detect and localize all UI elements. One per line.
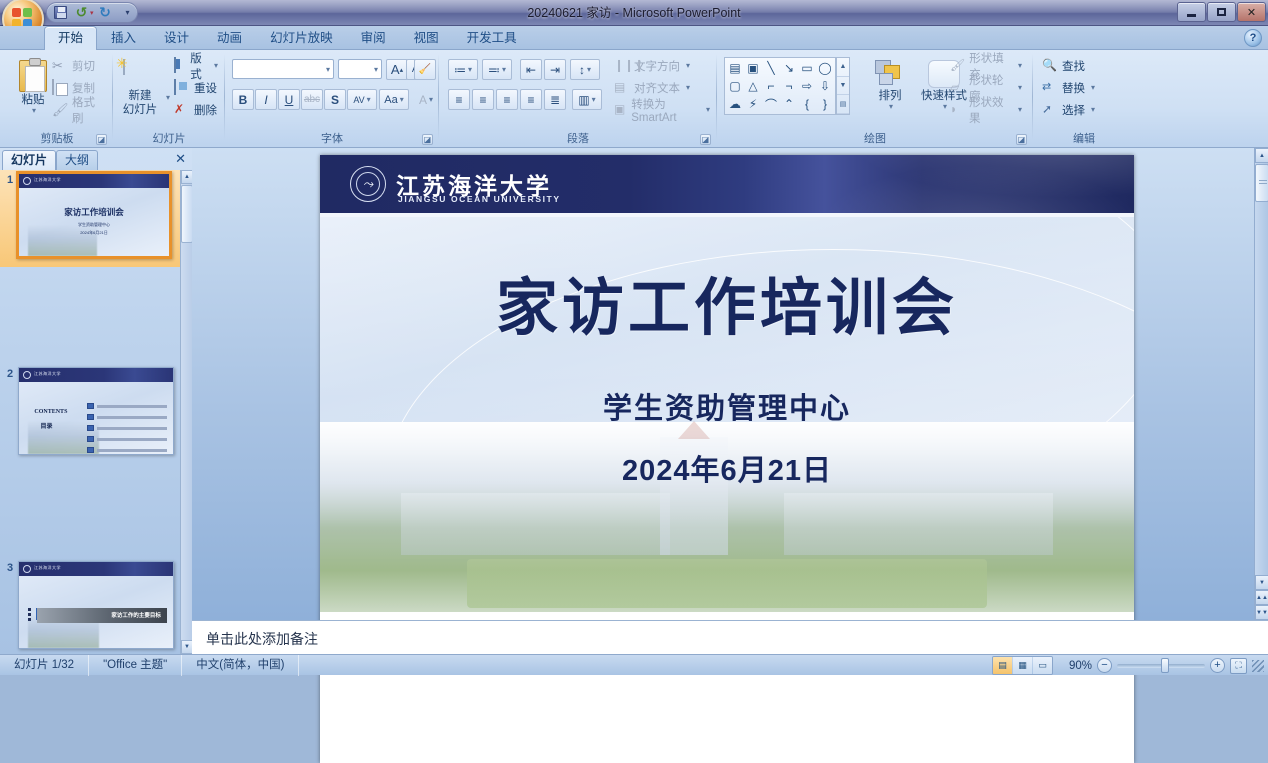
shape-fill-icon: 🖌 [950, 58, 965, 74]
tab-review[interactable]: 审阅 [347, 26, 400, 50]
strikethrough-icon: abc [304, 94, 320, 105]
arrange-dropdown-icon[interactable]: ▾ [889, 102, 893, 111]
align-center-icon: ≡ [479, 93, 486, 107]
tab-insert[interactable]: 插入 [97, 26, 150, 50]
thumbnail-number: 2 [3, 368, 17, 380]
reset-label: 重设 [194, 80, 217, 96]
shape-elbow-icon[interactable]: ⌐ [762, 77, 780, 95]
bold-icon: B [239, 93, 248, 107]
close-icon: ✕ [1247, 6, 1256, 19]
scroll-thumb[interactable] [1255, 164, 1268, 202]
align-left-button[interactable]: ≡ [448, 89, 470, 110]
numbering-button[interactable]: ≕▾ [482, 59, 512, 80]
university-name-en: JIANGSU OCEAN UNIVERSITY [398, 194, 561, 204]
select-arrow-icon: ➚ [1042, 102, 1058, 118]
new-slide-label-1: 新建 [129, 90, 152, 102]
thumbnail-slide-3[interactable]: 3 江苏海洋大学 家访工作的主要目标 [0, 558, 180, 654]
font-dialog-launcher-icon[interactable]: ◪ [422, 134, 433, 145]
decrease-indent-icon: ⇤ [526, 63, 536, 77]
shape-right-arrow-icon[interactable]: ⇨ [798, 77, 816, 95]
zoom-out-button[interactable]: − [1097, 658, 1112, 673]
new-slide-icon: ✳ [123, 60, 157, 88]
tab-developer[interactable]: 开发工具 [453, 26, 531, 50]
arrange-button[interactable]: 排列 ▾ [868, 55, 912, 112]
ribbon-tab-bar: 开始 插入 设计 动画 幻灯片放映 审阅 视图 开发工具 ? [0, 26, 1268, 50]
reset-icon [174, 80, 190, 96]
find-button[interactable]: 🔍 查找 [1038, 55, 1118, 76]
convert-smartart-label: 转换为 SmartArt [631, 96, 700, 124]
redo-icon[interactable]: ↻ [96, 4, 115, 22]
increase-indent-icon: ⇥ [550, 63, 560, 77]
tab-slideshow[interactable]: 幻灯片放映 [256, 26, 347, 50]
distribute-button[interactable]: ≣ [544, 89, 566, 110]
slide-canvas: ⤳ 江苏海洋大学 JIANGSU OCEAN UNIVERSITY [320, 155, 1134, 612]
bullets-icon: ≔ [454, 63, 466, 77]
ribbon: 粘贴 ▾ ✂ 剪切 复制 🖌 格式刷 剪贴板 ◪ [0, 50, 1268, 148]
ribbon-tabs: 开始 插入 设计 动画 幻灯片放映 审阅 视图 开发工具 [44, 26, 531, 50]
grow-font-icon: A [391, 62, 400, 77]
slides-pane-tabs: 幻灯片 大纲 ✕ [0, 148, 192, 170]
layout-button[interactable]: 版式 ▾ [170, 55, 222, 76]
shape-arc-icon[interactable]: ⌃ [780, 95, 798, 113]
group-label-drawing: 绘图 [720, 130, 1030, 146]
close-pane-icon[interactable]: ✕ [175, 151, 186, 167]
line-spacing-icon: ↕ [579, 63, 585, 77]
shape-down-arrow-icon[interactable]: ⇩ [816, 77, 834, 95]
shape-arrow-icon[interactable]: ↘ [780, 59, 798, 77]
scroll-down-icon[interactable]: ▼ [1255, 575, 1268, 590]
shapes-scroll-down-icon[interactable]: ▼ [837, 77, 849, 96]
align-left-icon: ≡ [455, 93, 462, 107]
zoom-level-label[interactable]: 90% [1058, 660, 1092, 672]
shape-lbrace-icon[interactable]: { [798, 95, 816, 113]
font-color-button[interactable]: A ▾ [411, 89, 441, 110]
italic-icon: I [264, 93, 267, 107]
shape-effects-icon: ◗ [950, 102, 965, 118]
view-slide-sorter-button[interactable]: ▦ [1013, 657, 1032, 674]
font-name-dropdown-icon[interactable]: ▾ [326, 65, 330, 74]
layout-icon [174, 58, 186, 74]
shape-cloud-icon[interactable]: ☁ [726, 95, 744, 113]
format-painter-label: 格式刷 [72, 94, 104, 126]
columns-icon: ▥ [578, 93, 589, 107]
window-title: 20240621 家访 - Microsoft PowerPoint [0, 0, 1268, 26]
shapes-more-icon[interactable]: ▤ [837, 95, 849, 114]
replace-button[interactable]: ⇄ 替换 ▾ [1038, 77, 1118, 98]
convert-smartart-button[interactable]: ▣ 转换为 SmartArt ▾ [610, 99, 714, 120]
shape-picture-icon[interactable]: ▣ [744, 59, 762, 77]
shape-lightning-icon[interactable]: ⚡ [744, 95, 762, 113]
customize-qat-icon[interactable]: ▾ [126, 8, 130, 17]
replace-icon: ⇄ [1042, 80, 1058, 96]
status-right-controls: ▤ ▦ ▭ 90% − + ⛶ [992, 655, 1264, 676]
thumbnail-title: 家访工作培训会 [19, 206, 169, 218]
resize-grip[interactable] [1252, 660, 1264, 672]
character-spacing-icon: AV [353, 95, 364, 105]
shape-rbrace-icon[interactable]: } [816, 95, 834, 113]
shape-triangle-icon[interactable]: △ [744, 77, 762, 95]
redo-glyph: ↻ [99, 4, 111, 21]
slide-workspace: ⤳ 江苏海洋大学 JIANGSU OCEAN UNIVERSITY [192, 148, 1254, 620]
shapes-grid[interactable]: ▤ ▣ ╲ ↘ ▭ ◯ ▢ △ ⌐ ¬ ⇨ ⇩ ☁ ⚡ ⌒ [724, 57, 836, 115]
tab-slides-thumbnails[interactable]: 幻灯片 [2, 150, 56, 170]
shape-outline-icon: ▱ [950, 80, 965, 96]
align-text-icon: ▤ [614, 80, 630, 96]
undo-icon[interactable]: ↺ [72, 4, 91, 22]
clipboard-dialog-launcher-icon[interactable]: ◪ [96, 134, 107, 145]
paste-dropdown-icon[interactable]: ▾ [32, 106, 36, 115]
restore-button[interactable] [1207, 2, 1236, 22]
previous-slide-icon[interactable]: ▲▲ [1255, 590, 1268, 605]
smartart-icon: ▣ [614, 102, 627, 118]
thumbnail-contents-list [87, 401, 167, 455]
scroll-bottom-controls: ▼ ▲▲ ▼▼ [1255, 575, 1268, 620]
thumbnail-contents-cn: 目录 [41, 421, 53, 430]
group-label-clipboard: 剪贴板 [4, 130, 110, 146]
university-logo-icon: ⤳ [350, 166, 386, 202]
shapes-scroll-up-icon[interactable]: ▲ [837, 58, 849, 77]
replace-label: 替换 [1062, 80, 1085, 96]
arrange-icon [875, 60, 905, 88]
find-icon: 🔍 [1042, 58, 1058, 74]
clear-formatting-button[interactable]: 🧹 [414, 59, 436, 80]
distribute-icon: ≣ [550, 93, 560, 107]
fit-to-window-button[interactable]: ⛶ [1230, 658, 1247, 674]
tab-animations[interactable]: 动画 [203, 26, 256, 50]
slide-vertical-scrollbar[interactable]: ▲ ▼ ▲▲ ▼▼ [1254, 148, 1268, 620]
view-slideshow-button[interactable]: ▭ [1033, 657, 1052, 674]
copy-icon [52, 80, 68, 96]
view-normal-button[interactable]: ▤ [993, 657, 1012, 674]
undo-glyph: ↺ [76, 4, 88, 21]
shape-effects-label: 形状效果 [969, 94, 1012, 126]
thumbnail-date: 2024年6月21日 [19, 230, 169, 236]
paste-icon [19, 60, 47, 92]
tab-outline[interactable]: 大纲 [56, 150, 98, 170]
thumbnail-slide-2[interactable]: 2 江苏海洋大学 CONTENTS 目录 [0, 364, 180, 461]
reset-button[interactable]: 重设 [170, 77, 222, 98]
shapes-gallery[interactable]: ▤ ▣ ╲ ↘ ▭ ◯ ▢ △ ⌐ ¬ ⇨ ⇩ ☁ ⚡ ⌒ [724, 57, 850, 115]
scroll-up-icon[interactable]: ▲ [1255, 148, 1268, 163]
format-painter-icon: 🖌 [52, 102, 68, 118]
justify-icon: ≡ [527, 93, 534, 107]
window-controls: ✕ [1177, 2, 1266, 22]
shape-line-icon[interactable]: ╲ [762, 59, 780, 77]
save-icon[interactable] [51, 4, 70, 22]
status-theme: "Office 主题" [89, 655, 182, 676]
shape-rect-icon[interactable]: ▭ [798, 59, 816, 77]
ribbon-group-slides: ✳ 新建 幻灯片 ▾ 版式 ▾ 重设 ✗ 删除 [116, 51, 222, 147]
increase-indent-button[interactable]: ⇥ [544, 59, 566, 80]
group-label-paragraph: 段落 [442, 130, 714, 146]
group-label-slides: 幻灯片 [116, 130, 222, 146]
text-shadow-icon: S [331, 93, 339, 107]
new-slide-label-2: 幻灯片 [123, 104, 158, 116]
status-slide-count: 幻灯片 1/32 [0, 655, 89, 676]
delete-icon: ✗ [174, 102, 190, 118]
delete-label: 删除 [194, 102, 217, 118]
font-name-combobox[interactable]: ▾ [232, 59, 334, 79]
text-shadow-button[interactable]: S [324, 89, 346, 110]
slide-body: 家访工作培训会 学生资助管理中心 2024年6月21日 [320, 217, 1134, 612]
slide-date[interactable]: 2024年6月21日 [320, 447, 1134, 489]
columns-button[interactable]: ▥▾ [572, 89, 602, 110]
shape-elbow2-icon[interactable]: ¬ [780, 77, 798, 95]
close-button[interactable]: ✕ [1237, 2, 1266, 22]
thumbnail-subtitle: 学生资助管理中心 [19, 222, 169, 228]
line-spacing-button[interactable]: ↕▾ [570, 59, 600, 80]
numbering-icon: ≕ [488, 63, 500, 77]
delete-slide-button[interactable]: ✗ 删除 [170, 99, 222, 120]
zoom-in-button[interactable]: + [1210, 658, 1225, 673]
align-text-label: 对齐文本 [634, 80, 680, 96]
underline-icon: U [285, 93, 294, 107]
ribbon-group-paragraph: ≔▾ ≕▾ ⇤ ⇥ ↕▾ ≡ ≡ ≡ ≡ ≣ [442, 51, 714, 147]
thumbnail-number: 1 [3, 174, 17, 186]
powerpoint-window: 20240621 家访 - Microsoft PowerPoint ↺ ▾ ↻… [0, 0, 1268, 675]
status-bar: 幻灯片 1/32 "Office 主题" 中文(简体，中国) ▤ ▦ ▭ 90%… [0, 654, 1268, 675]
decrease-indent-button[interactable]: ⇤ [520, 59, 542, 80]
underline-button[interactable]: U [278, 89, 300, 110]
thumbnail-contents-en: CONTENTS [34, 409, 67, 415]
ribbon-group-clipboard: 粘贴 ▾ ✂ 剪切 复制 🖌 格式刷 剪贴板 ◪ [4, 51, 110, 147]
thumbnail-preview[interactable]: 江苏海洋大学 家访工作的主要目标 [18, 561, 174, 649]
paragraph-dialog-launcher-icon[interactable]: ◪ [700, 134, 711, 145]
strikethrough-button[interactable]: abc [301, 89, 323, 110]
arrange-label: 排列 [879, 90, 902, 102]
find-label: 查找 [1062, 58, 1085, 74]
ribbon-group-drawing: ▤ ▣ ╲ ↘ ▭ ◯ ▢ △ ⌐ ¬ ⇨ ⇩ ☁ ⚡ ⌒ [720, 51, 1030, 147]
group-label-editing: 编辑 [1034, 130, 1134, 146]
font-size-dropdown-icon[interactable]: ▾ [374, 65, 378, 74]
slide-thumbnail-list: 1 江苏海洋大学 家访工作培训会 学生资助管理中心 2024年6月21日 2 江… [0, 170, 180, 654]
thumbnail-preview[interactable]: 江苏海洋大学 CONTENTS 目录 [18, 367, 174, 455]
shape-effects-button[interactable]: ◗ 形状效果 ▾ [946, 99, 1026, 120]
align-right-button[interactable]: ≡ [496, 89, 518, 110]
slide-title[interactable]: 家访工作培训会 [320, 257, 1134, 347]
thumbnail-band-title: 家访工作的主要目标 [111, 611, 161, 619]
thumbnail-preview[interactable]: 江苏海洋大学 家访工作培训会 学生资助管理中心 2024年6月21日 [16, 171, 172, 259]
group-label-font: 字体 [228, 130, 436, 146]
text-direction-button[interactable]: ❙❙❙ 文字方向 ▾ [610, 55, 710, 76]
select-button[interactable]: ➚ 选择 ▾ [1038, 99, 1118, 120]
slides-pane: 幻灯片 大纲 ✕ 1 江苏海洋大学 家访工作培训会 学生资助管理中心 2024年… [0, 148, 192, 654]
new-slide-button[interactable]: ✳ 新建 幻灯片 [116, 55, 164, 117]
drawing-dialog-launcher-icon[interactable]: ◪ [1016, 134, 1027, 145]
align-center-button[interactable]: ≡ [472, 89, 494, 110]
title-bar: 20240621 家访 - Microsoft PowerPoint ↺ ▾ ↻… [0, 0, 1268, 26]
scissors-icon: ✂ [52, 58, 68, 74]
cut-label: 剪切 [72, 58, 95, 74]
quick-access-toolbar: ↺ ▾ ↻ ▾ [46, 2, 138, 23]
thumbnail-number: 3 [3, 562, 17, 574]
shape-textbox-icon[interactable]: ▤ [726, 59, 744, 77]
shape-curve-icon[interactable]: ⌒ [762, 95, 780, 113]
status-language[interactable]: 中文(简体，中国) [182, 655, 299, 676]
character-spacing-button[interactable]: AV ▾ [347, 89, 377, 110]
tab-home[interactable]: 开始 [44, 26, 97, 50]
italic-button[interactable]: I [255, 89, 277, 110]
justify-button[interactable]: ≡ [520, 89, 542, 110]
grow-font-button[interactable]: A▴ [386, 59, 408, 80]
select-label: 选择 [1062, 102, 1085, 118]
thumbnail-slide-1[interactable]: 1 江苏海洋大学 家访工作培训会 学生资助管理中心 2024年6月21日 [0, 170, 180, 267]
font-color-icon: A [419, 93, 427, 107]
shapes-scroll-spinner[interactable]: ▲ ▼ ▤ [836, 57, 850, 115]
slide-header-banner: ⤳ 江苏海洋大学 JIANGSU OCEAN UNIVERSITY [320, 155, 1134, 213]
ribbon-group-editing: 🔍 查找 ⇄ 替换 ▾ ➚ 选择 ▾ 编辑 [1034, 51, 1134, 147]
tab-design[interactable]: 设计 [150, 26, 203, 50]
zoom-slider[interactable] [1117, 664, 1205, 668]
bullets-button[interactable]: ≔▾ [448, 59, 478, 80]
paste-label: 粘贴 [22, 94, 45, 106]
cut-button[interactable]: ✂ 剪切 [48, 55, 108, 76]
tab-view[interactable]: 视图 [400, 26, 453, 50]
notes-placeholder[interactable]: 单击此处添加备注 [206, 629, 318, 649]
thumbnail-scrollbar[interactable]: ▲ ▼ [180, 170, 192, 654]
layout-dropdown-icon[interactable]: ▾ [214, 61, 218, 70]
minimize-button[interactable] [1177, 2, 1206, 22]
view-buttons: ▤ ▦ ▭ [992, 656, 1053, 675]
shape-oval-icon[interactable]: ◯ [816, 59, 834, 77]
format-painter-button[interactable]: 🖌 格式刷 [48, 99, 108, 120]
change-case-button[interactable]: Aa ▾ [379, 89, 409, 110]
clear-formatting-icon: 🧹 [419, 64, 431, 75]
bold-button[interactable]: B [232, 89, 254, 110]
help-icon[interactable]: ? [1244, 29, 1262, 47]
next-slide-icon[interactable]: ▼▼ [1255, 605, 1268, 620]
ribbon-group-font: ▾ ▾ A▴ A▾ B I U [228, 51, 436, 147]
notes-pane[interactable]: 单击此处添加备注 [192, 620, 1268, 654]
font-size-combobox[interactable]: ▾ [338, 59, 382, 79]
slide-subtitle[interactable]: 学生资助管理中心 [320, 385, 1134, 427]
zoom-slider-handle[interactable] [1161, 658, 1169, 673]
undo-dropdown-icon[interactable]: ▾ [90, 9, 94, 17]
align-right-icon: ≡ [503, 93, 510, 107]
text-direction-icon: ❙❙❙ [614, 58, 630, 74]
shape-roundrect-icon[interactable]: ▢ [726, 77, 744, 95]
change-case-icon: Aa [384, 94, 397, 106]
